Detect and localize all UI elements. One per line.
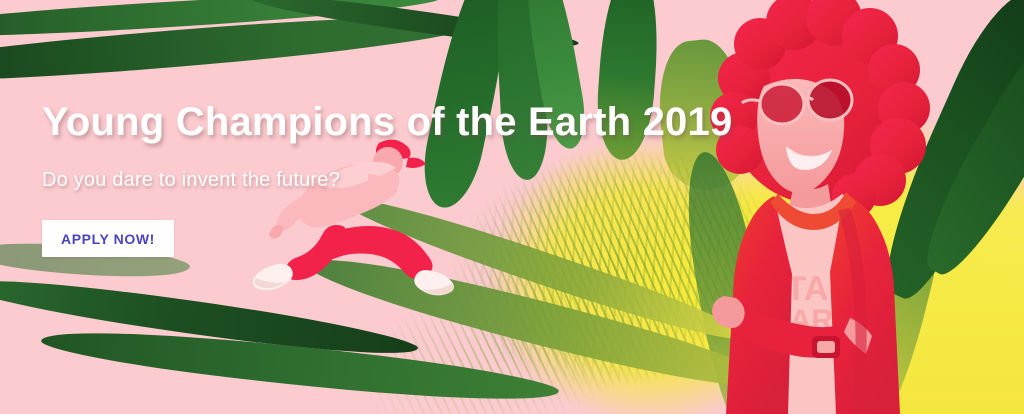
hero-subtitle: Do you dare to invent the future? [42,169,802,192]
hero-banner: STAR WARS Young Cha [0,0,1024,414]
page-title: Young Champions of the Earth 2019 [42,100,802,145]
apply-now-button[interactable]: APPLY NOW! [42,220,174,257]
hero-content: Young Champions of the Earth 2019 Do you… [42,100,802,257]
